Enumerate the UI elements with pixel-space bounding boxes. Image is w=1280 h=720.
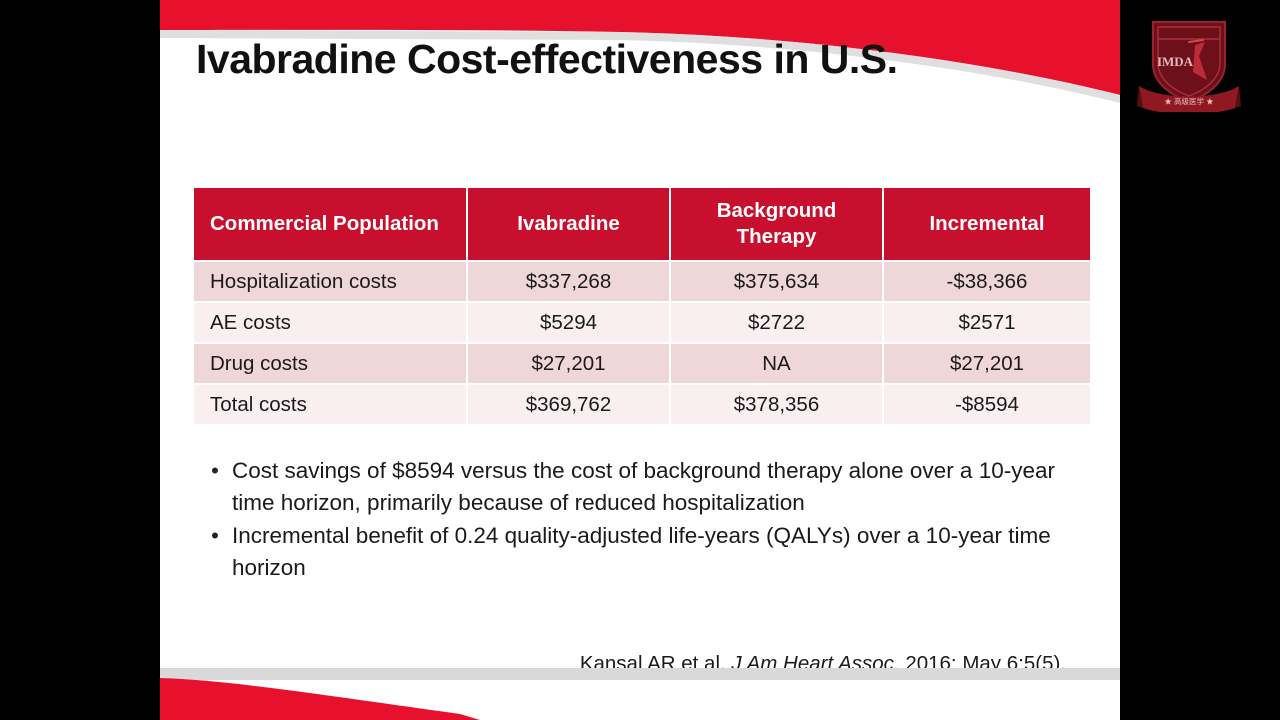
table-header: Commercial Population Ivabradine Backgro… — [193, 187, 1091, 261]
citation: Kansal AR et al. J Am Heart Assoc. 2016;… — [198, 652, 1088, 676]
page-title: Ivabradine Cost-effectiveness in U.S. — [196, 38, 1076, 81]
cost-effectiveness-table: Commercial Population Ivabradine Backgro… — [192, 186, 1092, 426]
table-row: Hospitalization costs $337,268 $375,634 … — [193, 261, 1091, 302]
column-header-ivabradine: Ivabradine — [467, 187, 670, 261]
bullet-marker-icon: • — [198, 520, 232, 552]
table-body: Hospitalization costs $337,268 $375,634 … — [193, 261, 1091, 425]
bullet-text-incremental-benefit: Incremental benefit of 0.24 quality-adju… — [232, 520, 1088, 584]
citation-journal: J Am Heart Assoc. — [731, 652, 899, 675]
row-label-hospitalization: Hospitalization costs — [193, 261, 467, 302]
list-item: • Incremental benefit of 0.24 quality-ad… — [198, 520, 1088, 584]
table-header-row: Commercial Population Ivabradine Backgro… — [193, 187, 1091, 261]
row-label-total-costs: Total costs — [193, 384, 467, 425]
table-row: Total costs $369,762 $378,356 -$8594 — [193, 384, 1091, 425]
cell-hospitalization-background: $375,634 — [670, 261, 883, 302]
screen-backdrop: Ivabradine Cost-effectiveness in U.S. Co… — [0, 0, 1280, 720]
cell-total-incremental: -$8594 — [883, 384, 1091, 425]
logo-crest-text: IMDA — [1157, 54, 1194, 69]
citation-authors: Kansal AR et al. — [580, 652, 726, 675]
column-header-background: Background Therapy — [670, 187, 883, 261]
bullet-list: • Cost savings of $8594 versus the cost … — [198, 455, 1088, 585]
row-label-ae-costs: AE costs — [193, 302, 467, 343]
imda-shield-logo: IMDA ★ 高级医学 ★ — [1137, 12, 1241, 112]
column-header-population: Commercial Population — [193, 187, 467, 261]
cell-drug-ivabradine: $27,201 — [467, 343, 670, 384]
row-label-drug-costs: Drug costs — [193, 343, 467, 384]
table-row: Drug costs $27,201 NA $27,201 — [193, 343, 1091, 384]
logo-ribbon-text: ★ 高级医学 ★ — [1164, 96, 1214, 106]
cell-drug-incremental: $27,201 — [883, 343, 1091, 384]
cell-ae-background: $2722 — [670, 302, 883, 343]
citation-details: 2016; May 6;5(5). — [905, 652, 1066, 675]
table-row: AE costs $5294 $2722 $2571 — [193, 302, 1091, 343]
cell-total-background: $378,356 — [670, 384, 883, 425]
cell-hospitalization-incremental: -$38,366 — [883, 261, 1091, 302]
cell-ae-incremental: $2571 — [883, 302, 1091, 343]
presentation-slide: Ivabradine Cost-effectiveness in U.S. Co… — [160, 0, 1120, 720]
bullet-marker-icon: • — [198, 455, 232, 487]
list-item: • Cost savings of $8594 versus the cost … — [198, 455, 1088, 519]
cell-total-ivabradine: $369,762 — [467, 384, 670, 425]
cell-drug-background: NA — [670, 343, 883, 384]
cell-hospitalization-ivabradine: $337,268 — [467, 261, 670, 302]
bullet-text-cost-savings: Cost savings of $8594 versus the cost of… — [232, 455, 1088, 519]
column-header-incremental: Incremental — [883, 187, 1091, 261]
cell-ae-ivabradine: $5294 — [467, 302, 670, 343]
